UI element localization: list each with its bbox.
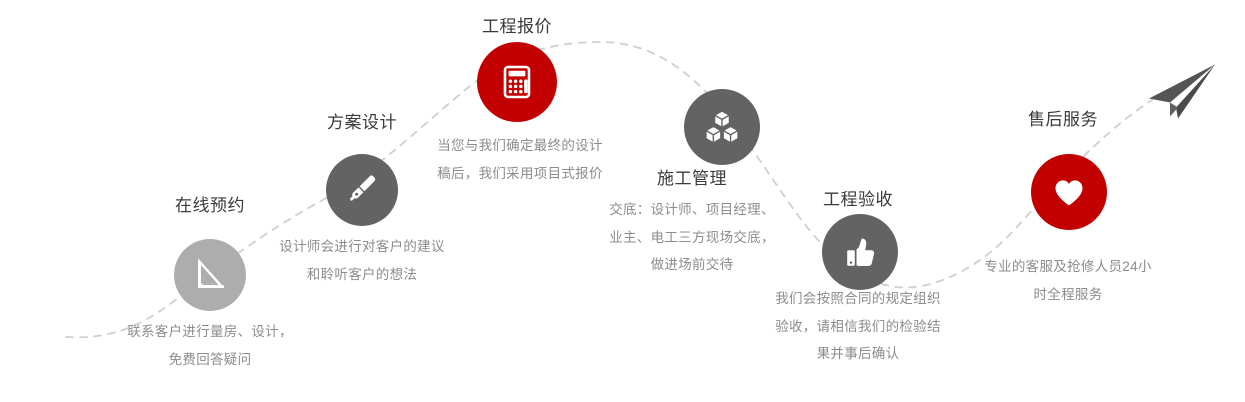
step-title-scheme-design: 方案设计 bbox=[327, 113, 397, 133]
step-icon-circle-online-booking[interactable] bbox=[174, 239, 246, 311]
step-icon-circle-project-acceptance[interactable] bbox=[822, 214, 898, 290]
step-title-after-sales-service: 售后服务 bbox=[1028, 110, 1098, 130]
step-desc-construction-management: 交底：设计师、项目经理、业主、电工三方现场交底，做进场前交待 bbox=[604, 196, 780, 279]
process-flow-infographic: 在线预约 bbox=[0, 0, 1245, 402]
paper-plane-icon bbox=[1143, 61, 1221, 132]
step-title-online-booking: 在线预约 bbox=[175, 196, 245, 216]
set-square-ruler-icon bbox=[190, 255, 230, 295]
step-desc-scheme-design: 设计师会进行对客户的建议和聆听客户的想法 bbox=[278, 233, 446, 288]
step-desc-project-quotation: 当您与我们确定最终的设计稿后，我们采用项目式报价 bbox=[435, 132, 605, 187]
step-title-project-acceptance: 工程验收 bbox=[823, 190, 893, 210]
step-icon-circle-scheme-design[interactable] bbox=[326, 154, 398, 226]
step-title-project-quotation: 工程报价 bbox=[482, 17, 552, 37]
step-desc-online-booking: 联系客户进行量房、设计，免费回答疑问 bbox=[124, 318, 296, 373]
step-desc-project-acceptance: 我们会按照合同的规定组织验收，请相信我们的检验结果并事后确认 bbox=[770, 285, 946, 368]
step-title-construction-management: 施工管理 bbox=[657, 169, 727, 189]
step-icon-circle-project-quotation[interactable] bbox=[477, 42, 557, 122]
step-desc-after-sales-service: 专业的客服及抢修人员24小时全程服务 bbox=[983, 253, 1153, 308]
stacked-boxes-icon bbox=[700, 105, 744, 149]
step-icon-circle-after-sales-service[interactable] bbox=[1031, 154, 1107, 230]
heart-icon bbox=[1048, 171, 1090, 213]
thumbs-up-icon bbox=[839, 231, 881, 273]
calculator-icon bbox=[495, 60, 539, 104]
step-icon-circle-construction-management[interactable] bbox=[684, 89, 760, 165]
pen-nib-icon bbox=[342, 170, 382, 210]
